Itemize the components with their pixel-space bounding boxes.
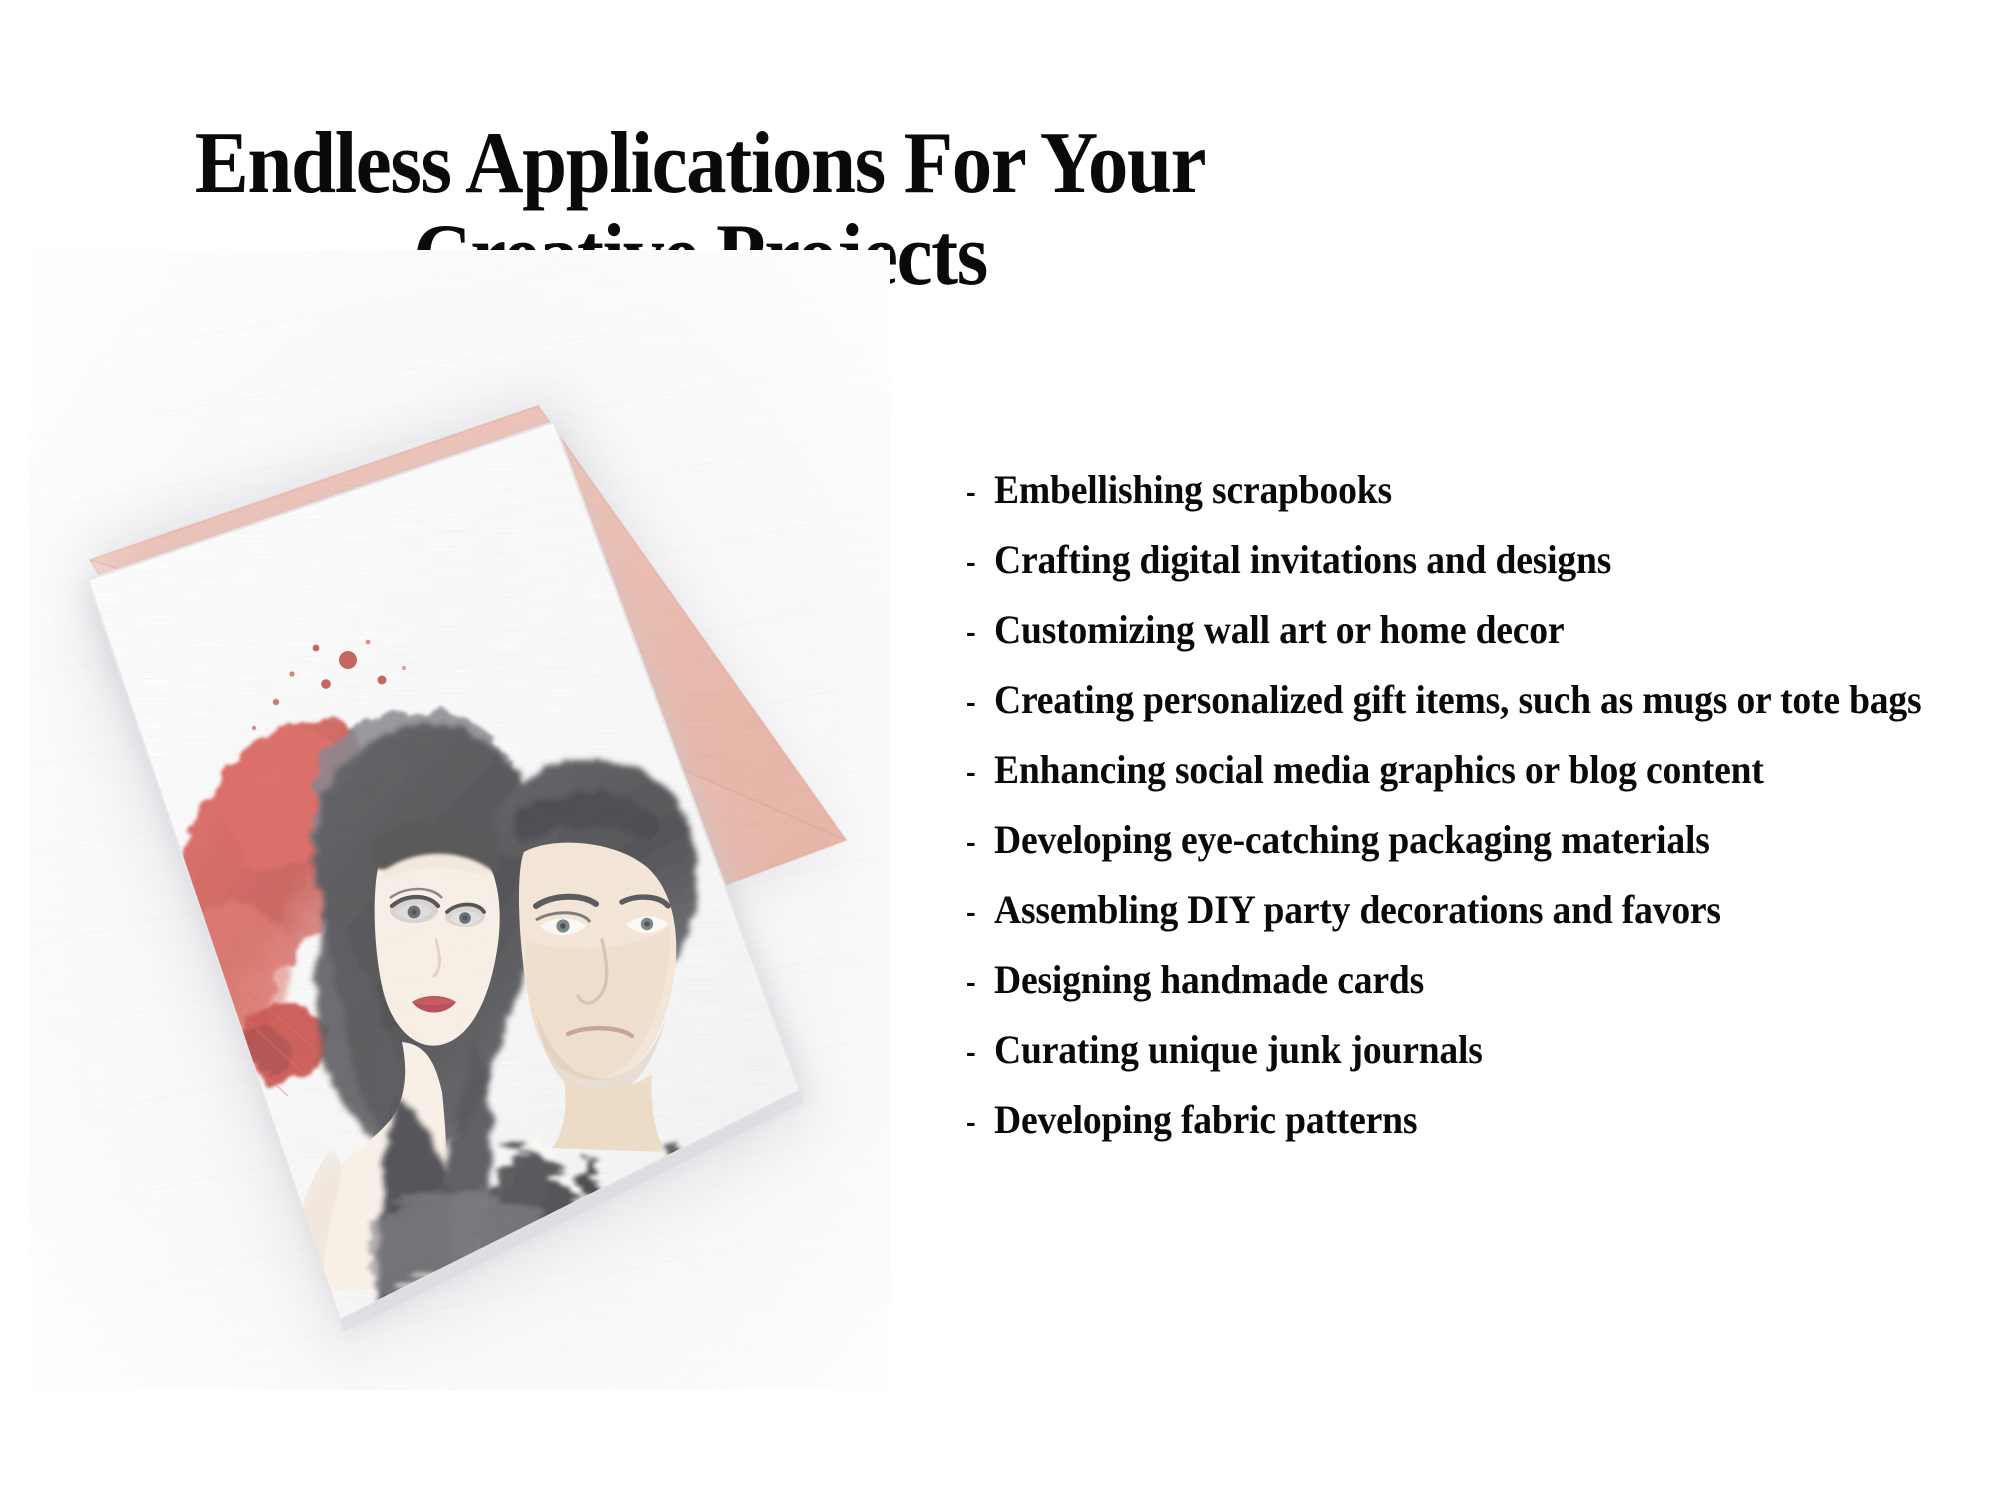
list-item: - Creating personalized gift items, such… — [966, 680, 1976, 750]
vignette — [30, 250, 890, 1390]
list-item: - Developing fabric patterns — [966, 1100, 1976, 1170]
list-item-label: Designing handmade cards — [994, 960, 1424, 1000]
list-item: - Assembling DIY party decorations and f… — [966, 890, 1976, 960]
bullet-dash-icon: - — [966, 683, 988, 719]
applications-list: - Embellishing scrapbooks - Crafting dig… — [966, 470, 1976, 1170]
list-item-label: Customizing wall art or home decor — [994, 610, 1564, 650]
page-title-line-1: Endless Applications For Your — [56, 118, 1344, 210]
list-item: - Customizing wall art or home decor — [966, 610, 1976, 680]
bullet-dash-icon: - — [966, 963, 988, 999]
bullet-dash-icon: - — [966, 613, 988, 649]
list-item: - Enhancing social media graphics or blo… — [966, 750, 1976, 820]
list-item: - Designing handmade cards — [966, 960, 1976, 1030]
bullet-dash-icon: - — [966, 1033, 988, 1069]
bullet-dash-icon: - — [966, 1103, 988, 1139]
bullet-dash-icon: - — [966, 753, 988, 789]
list-item-label: Developing fabric patterns — [994, 1100, 1417, 1140]
card-mockup-image — [30, 250, 890, 1390]
bullet-dash-icon: - — [966, 823, 988, 859]
poster-canvas: Endless Applications For Your Creative P… — [0, 0, 2000, 1501]
list-item-label: Curating unique junk journals — [994, 1030, 1483, 1070]
list-item-label: Crafting digital invitations and designs — [994, 540, 1611, 580]
list-item: - Crafting digital invitations and desig… — [966, 540, 1976, 610]
list-item-label: Creating personalized gift items, such a… — [994, 680, 1921, 720]
list-item: - Curating unique junk journals — [966, 1030, 1976, 1100]
list-item: - Embellishing scrapbooks — [966, 470, 1976, 540]
bullet-dash-icon: - — [966, 543, 988, 579]
list-item-label: Enhancing social media graphics or blog … — [994, 750, 1764, 790]
list-item-label: Assembling DIY party decorations and fav… — [994, 890, 1721, 930]
bullet-dash-icon: - — [966, 473, 988, 509]
bullet-dash-icon: - — [966, 893, 988, 929]
list-item-label: Embellishing scrapbooks — [994, 470, 1392, 510]
list-item-label: Developing eye-catching packaging materi… — [994, 820, 1710, 860]
list-item: - Developing eye-catching packaging mate… — [966, 820, 1976, 890]
